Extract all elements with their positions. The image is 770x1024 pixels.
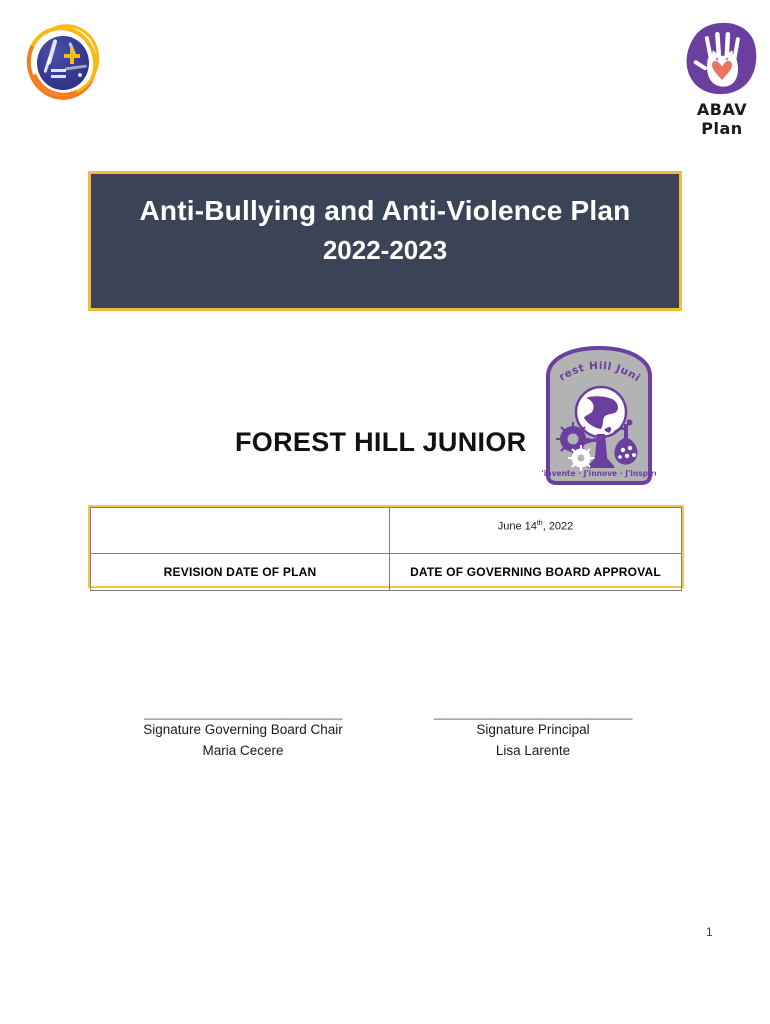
- approval-date-value-cell: June 14th, 2022: [390, 508, 682, 554]
- document-school-year: 2022-2023: [323, 230, 447, 272]
- page-number: 1: [706, 925, 713, 939]
- logo-dot-icon: [78, 73, 82, 77]
- forest-hill-junior-crest-icon: Forest Hill Junior: [542, 342, 656, 488]
- school-name: FOREST HILL JUNIOR: [235, 427, 526, 458]
- approval-date-header-cell: DATE OF GOVERNING BOARD APPROVAL: [390, 554, 682, 591]
- school-board-logo: [26, 24, 102, 104]
- signature-name: Maria Cecere: [118, 741, 368, 761]
- signature-block-governing-board-chair: _____________________________ Signature …: [118, 706, 368, 761]
- signature-line: _____________________________: [408, 706, 658, 720]
- approval-date-value: June 14th, 2022: [390, 520, 681, 533]
- title-banner: Anti-Bullying and Anti-Violence Plan 202…: [88, 171, 682, 311]
- crest-motto: J'invente · J'innove · J'inspire: [542, 469, 656, 478]
- logo-equals-icon: [51, 69, 66, 72]
- logo-streak-icon: [65, 64, 87, 70]
- revision-date-header-cell: REVISION DATE OF PLAN: [91, 554, 390, 591]
- signature-line: _____________________________: [118, 706, 368, 720]
- revision-date-value-cell: [91, 508, 390, 554]
- abav-hand-icon: [686, 22, 758, 96]
- table-row: REVISION DATE OF PLAN DATE OF GOVERNING …: [91, 554, 682, 591]
- logo-globe-icon: [37, 36, 89, 90]
- document-title: Anti-Bullying and Anti-Violence Plan: [139, 192, 630, 230]
- dates-table: June 14th, 2022 REVISION DATE OF PLAN DA…: [88, 505, 684, 588]
- document-page: ABAV Plan Anti-Bullying and Anti-Violenc…: [0, 0, 770, 1024]
- signature-role: Signature Principal: [408, 720, 658, 741]
- signature-role: Signature Governing Board Chair: [118, 720, 368, 741]
- signature-section: _____________________________ Signature …: [118, 706, 658, 761]
- logo-equals-icon: [51, 75, 66, 78]
- revision-date-header: REVISION DATE OF PLAN: [164, 565, 317, 579]
- signature-name: Lisa Larente: [408, 741, 658, 761]
- logo-plus-icon: [64, 54, 80, 58]
- approval-date-header: DATE OF GOVERNING BOARD APPROVAL: [410, 565, 661, 579]
- table-row: June 14th, 2022: [91, 508, 682, 554]
- abav-plan-caption: ABAV Plan: [676, 100, 768, 138]
- abav-plan-logo: ABAV Plan: [676, 22, 768, 130]
- signature-block-principal: _____________________________ Signature …: [408, 706, 658, 761]
